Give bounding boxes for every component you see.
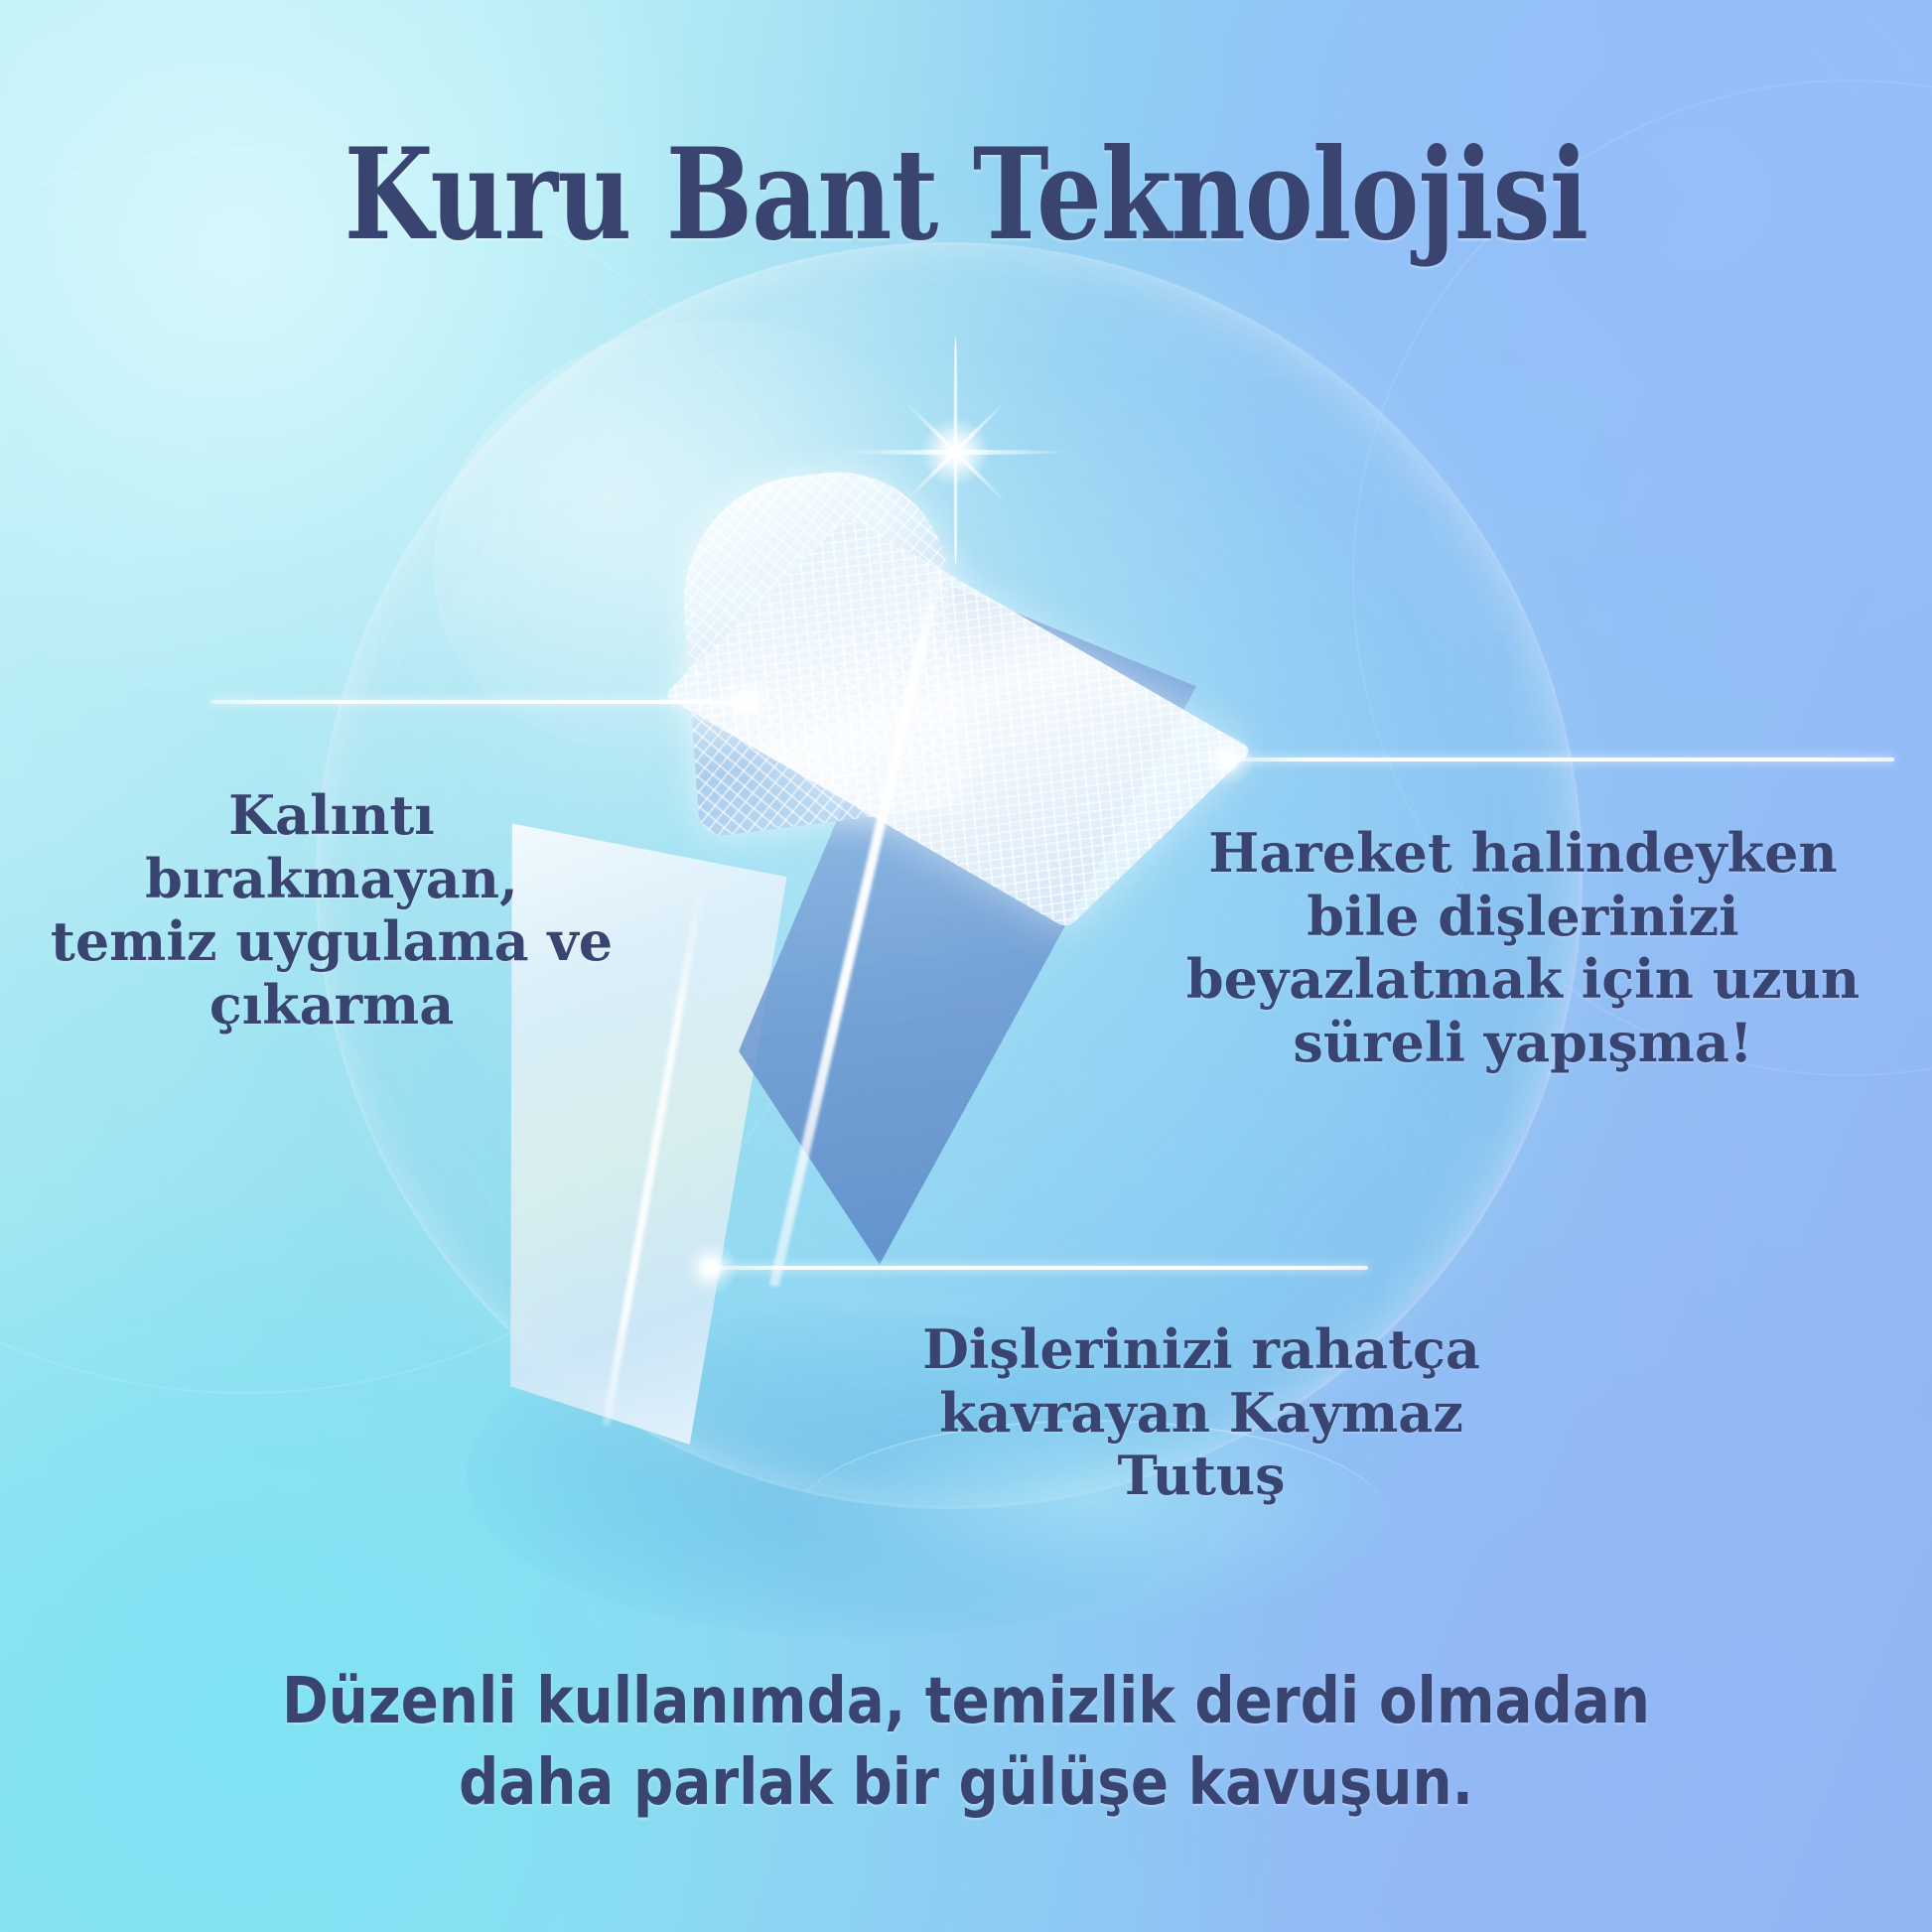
callout-bottom-line-3: Tutuş xyxy=(1117,1444,1285,1507)
leader-line-stroke xyxy=(711,1266,1368,1270)
callout-left-line-2: temiz uygulama ve xyxy=(51,909,613,973)
callout-bottom-line-2: kavrayan Kaymaz xyxy=(939,1381,1463,1445)
sparkle-core xyxy=(920,417,990,486)
callout-left-line-3: çıkarma xyxy=(209,973,454,1036)
page-title: Kuru Bant Teknolojisi xyxy=(174,129,1758,260)
leader-line-bottom xyxy=(711,1265,1368,1271)
leader-endpoint-dot xyxy=(684,1241,738,1295)
callout-left: Kalıntı bırakmayan, temiz uygulama ve çı… xyxy=(34,784,629,1037)
background-glow-top-right xyxy=(1128,0,1932,695)
strip-top-pad xyxy=(676,459,964,838)
leader-line-stroke xyxy=(210,700,747,704)
leader-line-right xyxy=(1227,757,1894,762)
background-glow-top-left xyxy=(0,0,735,695)
leader-line-left xyxy=(210,699,747,705)
sparkle-star-icon xyxy=(955,452,957,454)
callout-right: Hareket halindeyken bile dişlerinizi bey… xyxy=(1175,822,1870,1075)
strip-fold-shadow xyxy=(678,575,1217,1282)
callout-right-line-3: beyazlatmak için uzun xyxy=(1186,947,1860,1011)
poster-canvas: Kuru Bant Teknolojisi Kalıntı bırakmayan… xyxy=(0,0,1932,1932)
callout-right-line-4: süreli yapışma! xyxy=(1293,1011,1752,1074)
strip-specular-edge xyxy=(769,550,949,1288)
callout-right-line-1: Hareket halindeyken xyxy=(1208,821,1837,885)
leader-endpoint-dot xyxy=(1200,733,1254,786)
leader-line-stroke xyxy=(1227,758,1894,761)
callout-bottom-line-1: Dişlerinizi rahatça xyxy=(922,1317,1480,1381)
callout-bottom: Dişlerinizi rahatça kavrayan Kaymaz Tutu… xyxy=(874,1318,1529,1508)
callout-left-line-1: Kalıntı bırakmayan, xyxy=(145,783,518,910)
callout-right-line-2: bile dişlerinizi xyxy=(1307,885,1738,948)
strip-upper-flap xyxy=(663,516,1253,929)
footer-tagline: Düzenli kullanımda, temizlik derdi olmad… xyxy=(220,1662,1711,1825)
footer-line-1: Düzenli kullanımda, temizlik derdi olmad… xyxy=(282,1665,1650,1738)
leader-endpoint-dot xyxy=(720,675,773,729)
bubble-highlight xyxy=(367,246,1002,826)
footer-line-2: daha parlak bir gülüşe kavuşun. xyxy=(220,1743,1711,1825)
background-arc-left xyxy=(0,149,868,1394)
